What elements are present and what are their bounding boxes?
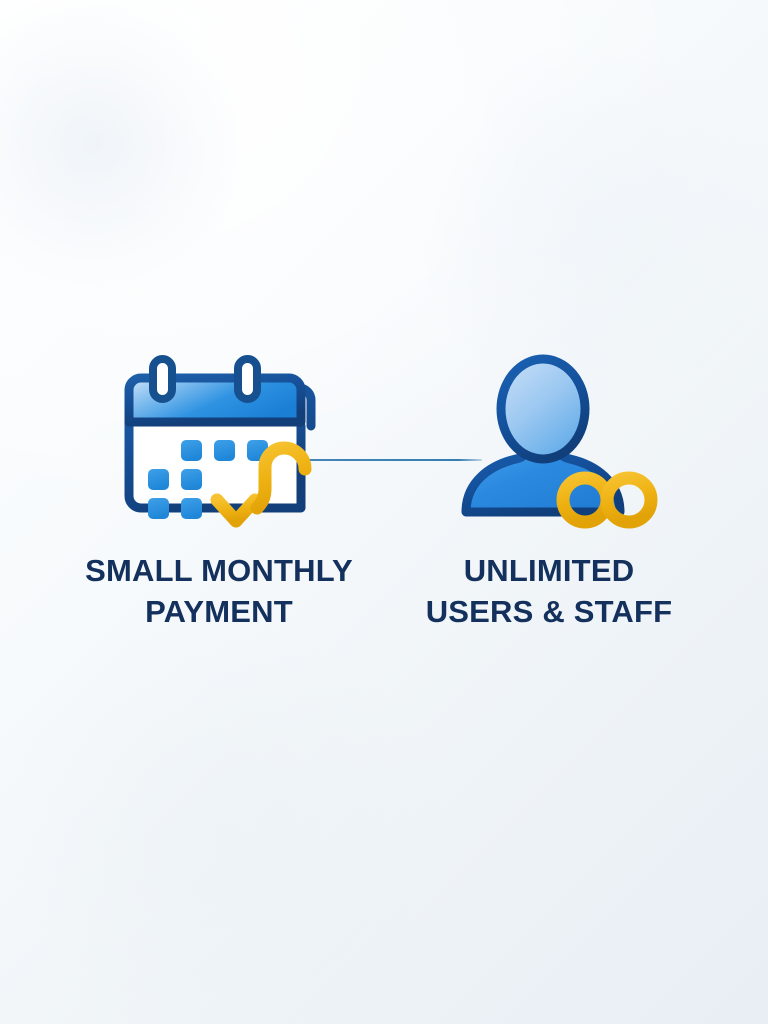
infographic-canvas: SMALL MONTHLY PAYMENT bbox=[0, 0, 768, 1024]
feature-label-line-1: SMALL MONTHLY bbox=[85, 550, 353, 591]
feature-label-unlimited-users-staff: UNLIMITED USERS & STAFF bbox=[426, 550, 673, 632]
calendar-ring-right bbox=[238, 359, 257, 399]
user-plus-infinity-icon bbox=[444, 352, 654, 532]
feature-label-line-2: USERS & STAFF bbox=[426, 591, 673, 632]
plus-icon bbox=[597, 408, 641, 452]
feature-small-monthly-payment[interactable]: SMALL MONTHLY PAYMENT bbox=[54, 352, 384, 632]
calendar-pound-down-arrow-icon bbox=[114, 352, 324, 532]
calendar-ring-left bbox=[153, 359, 172, 399]
feature-unlimited-users-staff[interactable]: UNLIMITED USERS & STAFF bbox=[384, 352, 714, 632]
features-row: SMALL MONTHLY PAYMENT bbox=[0, 352, 768, 652]
feature-label-line-1: UNLIMITED bbox=[426, 550, 673, 591]
feature-label-line-2: PAYMENT bbox=[85, 591, 353, 632]
feature-label-small-monthly-payment: SMALL MONTHLY PAYMENT bbox=[85, 550, 353, 632]
